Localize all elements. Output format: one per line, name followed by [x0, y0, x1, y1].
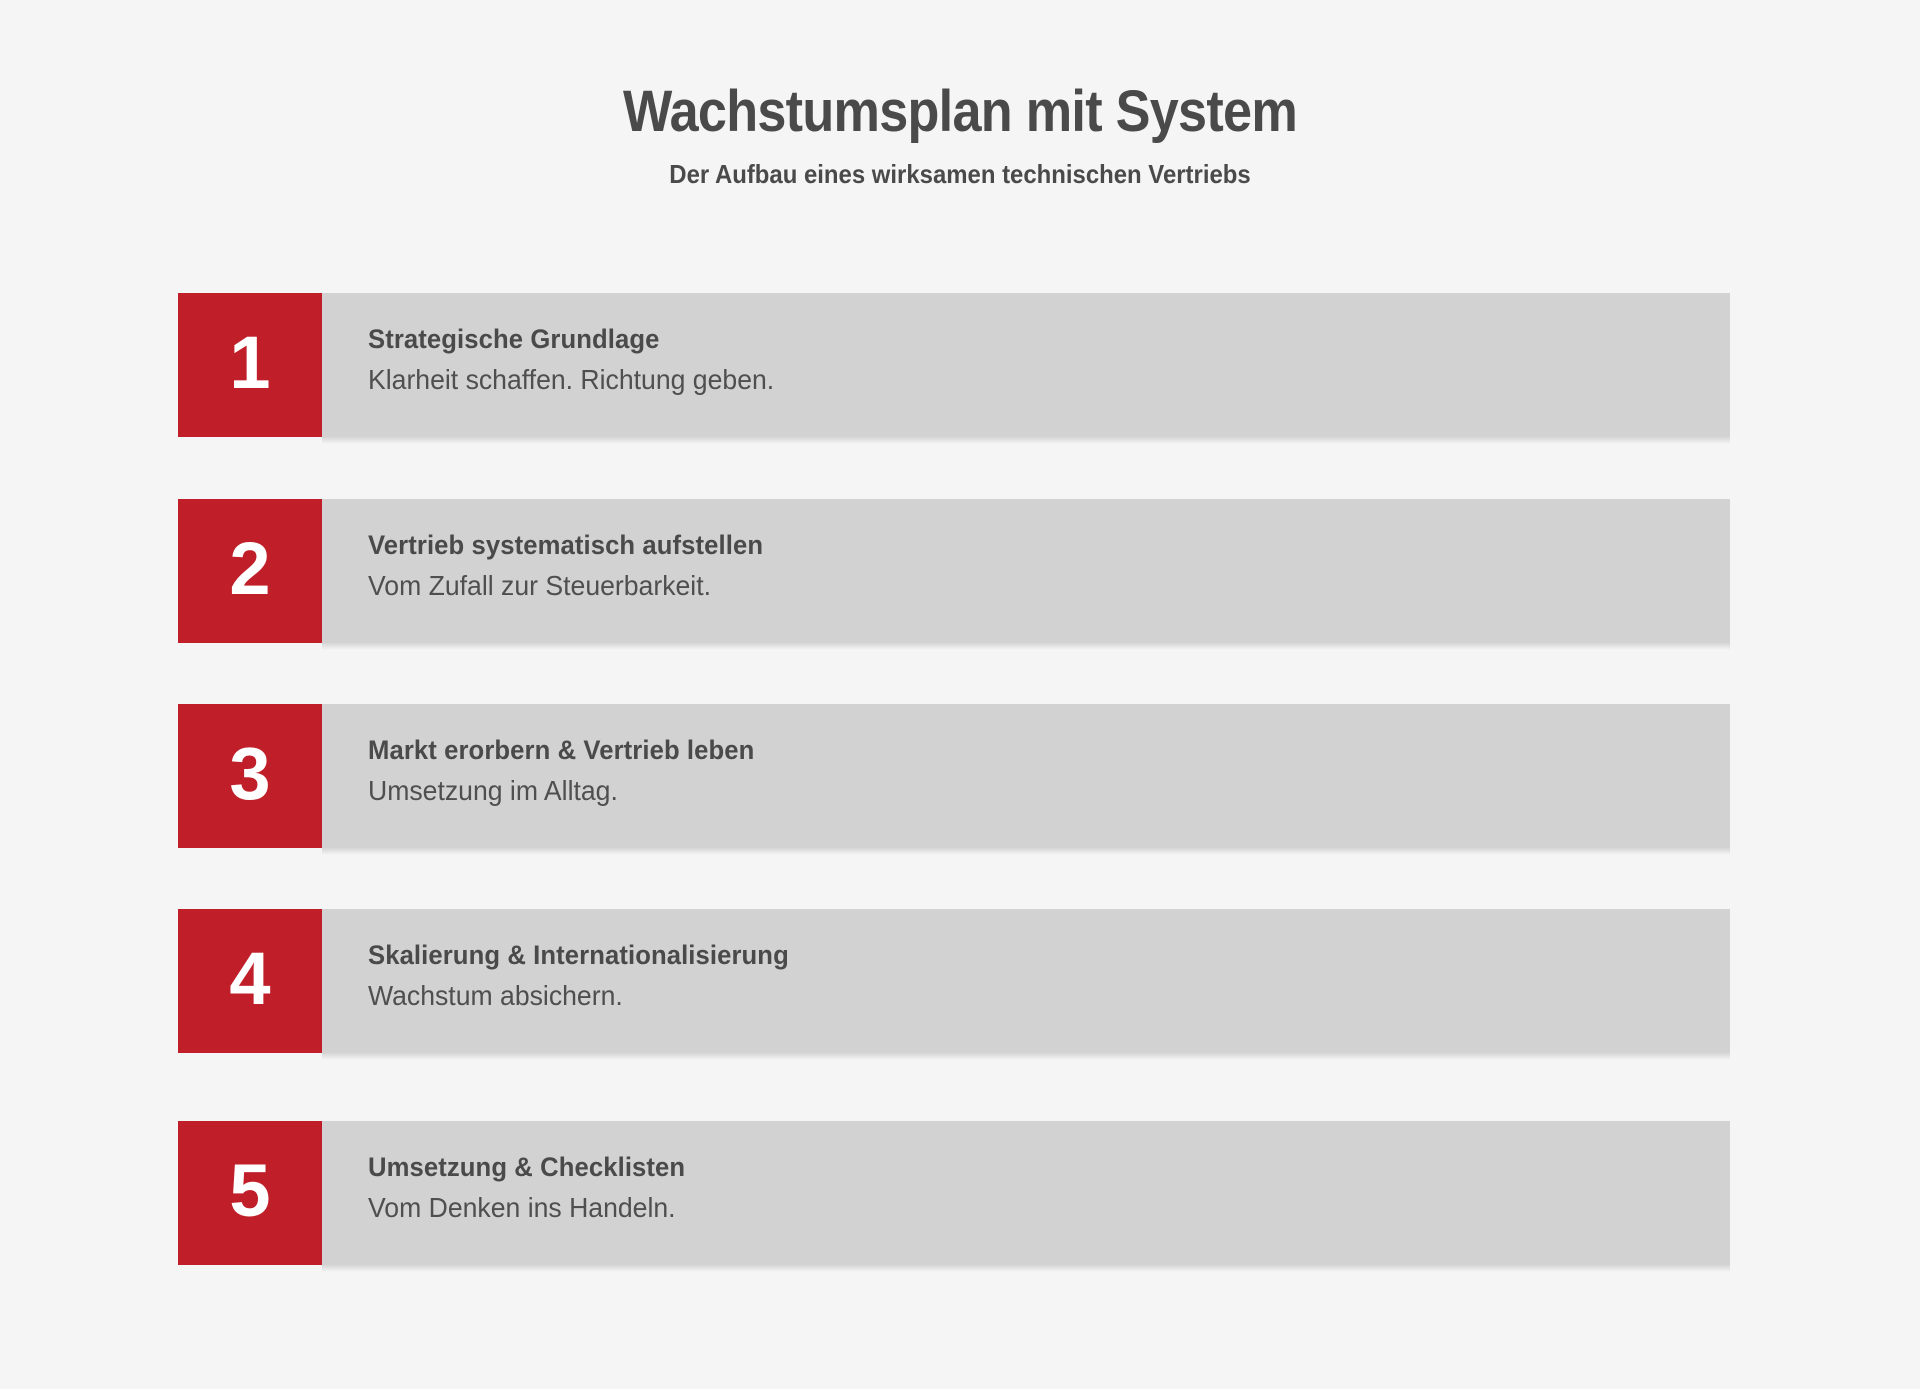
step-heading-block: Strategische GrundlageKlarheit schaffen.… [368, 324, 796, 396]
step-number-badge: 2 [178, 499, 322, 643]
step-title: Umsetzung & Checklisten [368, 1152, 685, 1183]
step-number-badge: 1 [178, 293, 322, 437]
step-title: Skalierung & Internationalisierung [368, 940, 789, 971]
step-heading-block: Skalierung & InternationalisierungWachst… [368, 940, 811, 1012]
step-subtitle: Umsetzung im Alltag. [368, 775, 754, 807]
step-number-badge: 3 [178, 704, 322, 848]
step-subtitle: Klarheit schaffen. Richtung geben. [368, 364, 774, 396]
step-heading-block: Markt erorbern & Vertrieb lebenUmsetzung… [368, 735, 775, 807]
step-title: Strategische Grundlage [368, 324, 774, 355]
page-subtitle: Der Aufbau eines wirksamen technischen V… [77, 145, 1843, 190]
step-number-label: 2 [229, 532, 270, 606]
step-subtitle: Wachstum absichern. [368, 980, 789, 1012]
header: Wachstumsplan mit System Der Aufbau eine… [0, 0, 1920, 190]
step-heading-block: Umsetzung & ChecklistenVom Denken ins Ha… [368, 1152, 702, 1224]
step-title: Vertrieb systematisch aufstellen [368, 530, 763, 561]
step-subtitle: Vom Denken ins Handeln. [368, 1192, 685, 1224]
step-number-label: 3 [229, 737, 270, 811]
step-number-label: 5 [229, 1154, 270, 1228]
step-title: Markt erorbern & Vertrieb leben [368, 735, 754, 766]
step-heading-block: Vertrieb systematisch aufstellenVom Zufa… [368, 530, 784, 602]
step-number-badge: 4 [178, 909, 322, 1053]
step-number-label: 4 [229, 942, 270, 1016]
step-number-label: 1 [229, 326, 270, 400]
step-number-badge: 5 [178, 1121, 322, 1265]
step-subtitle: Vom Zufall zur Steuerbarkeit. [368, 570, 763, 602]
page-title: Wachstumsplan mit System [96, 0, 1824, 145]
infographic-canvas: Wachstumsplan mit System Der Aufbau eine… [0, 0, 1920, 1389]
